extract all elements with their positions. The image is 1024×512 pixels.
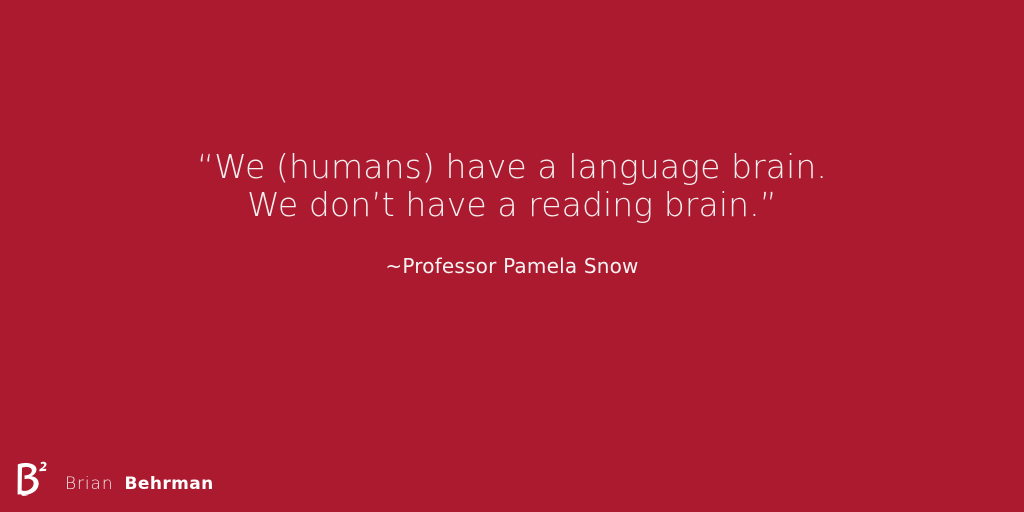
brand-lockup: Brian Behrman	[10, 455, 214, 501]
brand-wordmark: Brian Behrman	[65, 474, 214, 494]
quote-text-block: “We (humans) have a language brain. We d…	[0, 148, 1024, 224]
quote-line-1: “We (humans) have a language brain.	[0, 148, 1024, 186]
quote-attribution: ~Professor Pamela Snow	[0, 253, 1024, 279]
brand-first-name: Brian	[65, 474, 114, 494]
quote-slide: “We (humans) have a language brain. We d…	[0, 0, 1024, 512]
brand-last-name: Behrman	[125, 474, 214, 494]
b-squared-logo-icon	[10, 457, 54, 501]
quote-line-2: We don’t have a reading brain.”	[0, 186, 1024, 224]
